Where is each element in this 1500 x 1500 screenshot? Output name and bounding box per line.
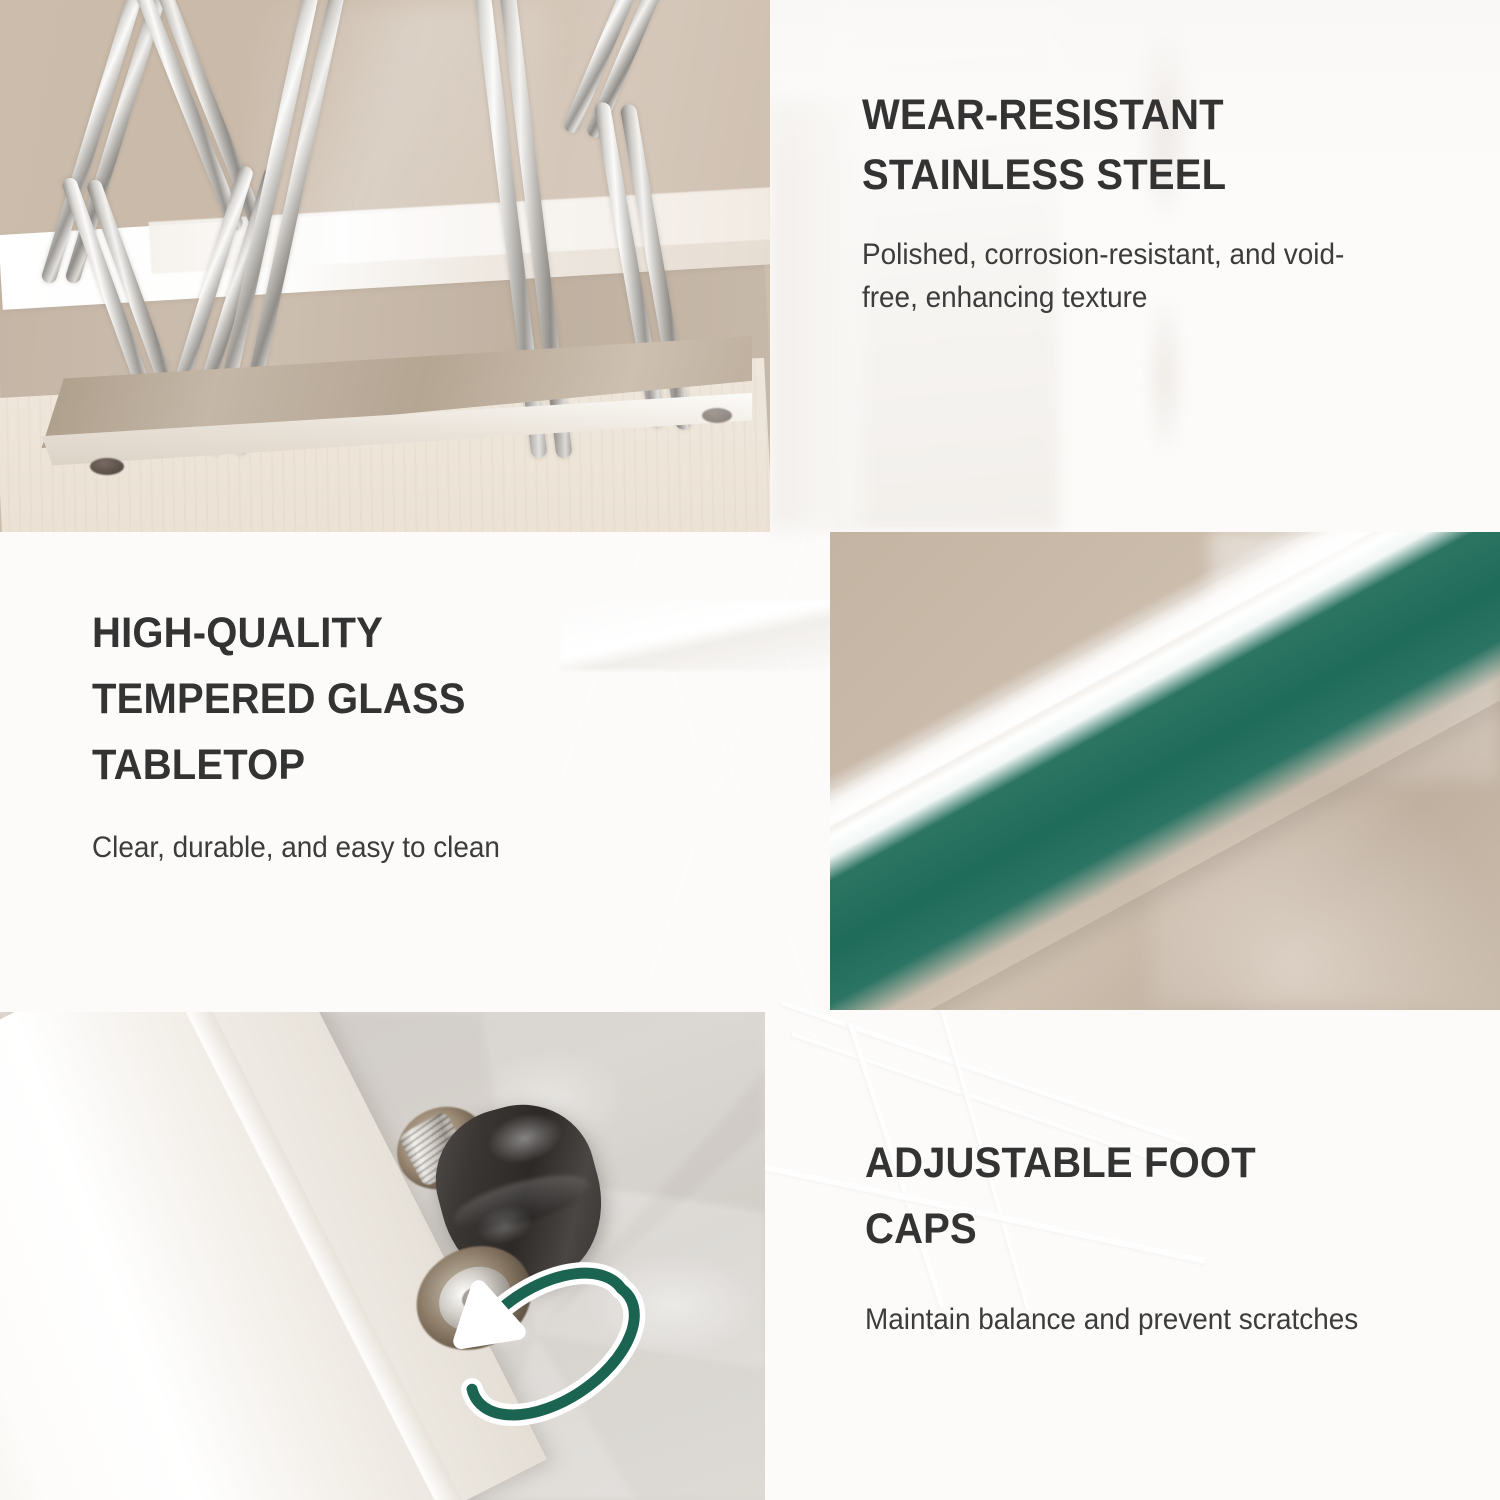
- feature-heading: ADJUSTABLE FOOT CAPS: [865, 1130, 1386, 1262]
- feature-text-stainless-steel: WEAR-RESISTANT STAINLESS STEEL Polished,…: [862, 85, 1422, 505]
- rotation-arrow-icon: [415, 1210, 675, 1470]
- photo-stainless-steel-frame: [0, 0, 770, 532]
- feature-heading-line: HIGH-QUALITY: [92, 609, 383, 657]
- background-soft-gradient-left: [770, 100, 860, 530]
- infographic-canvas: WEAR-RESISTANT STAINLESS STEEL Polished,…: [0, 0, 1500, 1500]
- base-plate-foot: [90, 458, 124, 475]
- feature-body: Polished, corrosion-resistant, and void-…: [862, 233, 1383, 319]
- feature-body: Maintain balance and prevent scratches: [865, 1298, 1386, 1341]
- chrome-base-plate: [12, 336, 752, 486]
- feature-heading-line: ADJUSTABLE FOOT: [865, 1139, 1256, 1187]
- feature-heading-line: STAINLESS STEEL: [862, 151, 1226, 199]
- feature-heading-line: TABLETOP: [92, 741, 305, 789]
- feature-text-tempered-glass: HIGH-QUALITY TEMPERED GLASS TABLETOP Cle…: [92, 600, 672, 980]
- feature-body: Clear, durable, and easy to clean: [92, 826, 631, 869]
- feature-heading-line: TEMPERED GLASS: [92, 675, 466, 723]
- feature-heading-line: CAPS: [865, 1205, 977, 1253]
- feature-heading: WEAR-RESISTANT STAINLESS STEEL: [862, 85, 1383, 205]
- base-plate-foot: [702, 408, 732, 423]
- feature-heading: HIGH-QUALITY TEMPERED GLASS TABLETOP: [92, 600, 631, 798]
- photo-tempered-glass-edge: [830, 532, 1500, 1010]
- feature-text-adjustable-foot-caps: ADJUSTABLE FOOT CAPS Maintain balance an…: [865, 1130, 1425, 1460]
- feature-heading-line: WEAR-RESISTANT: [862, 91, 1224, 139]
